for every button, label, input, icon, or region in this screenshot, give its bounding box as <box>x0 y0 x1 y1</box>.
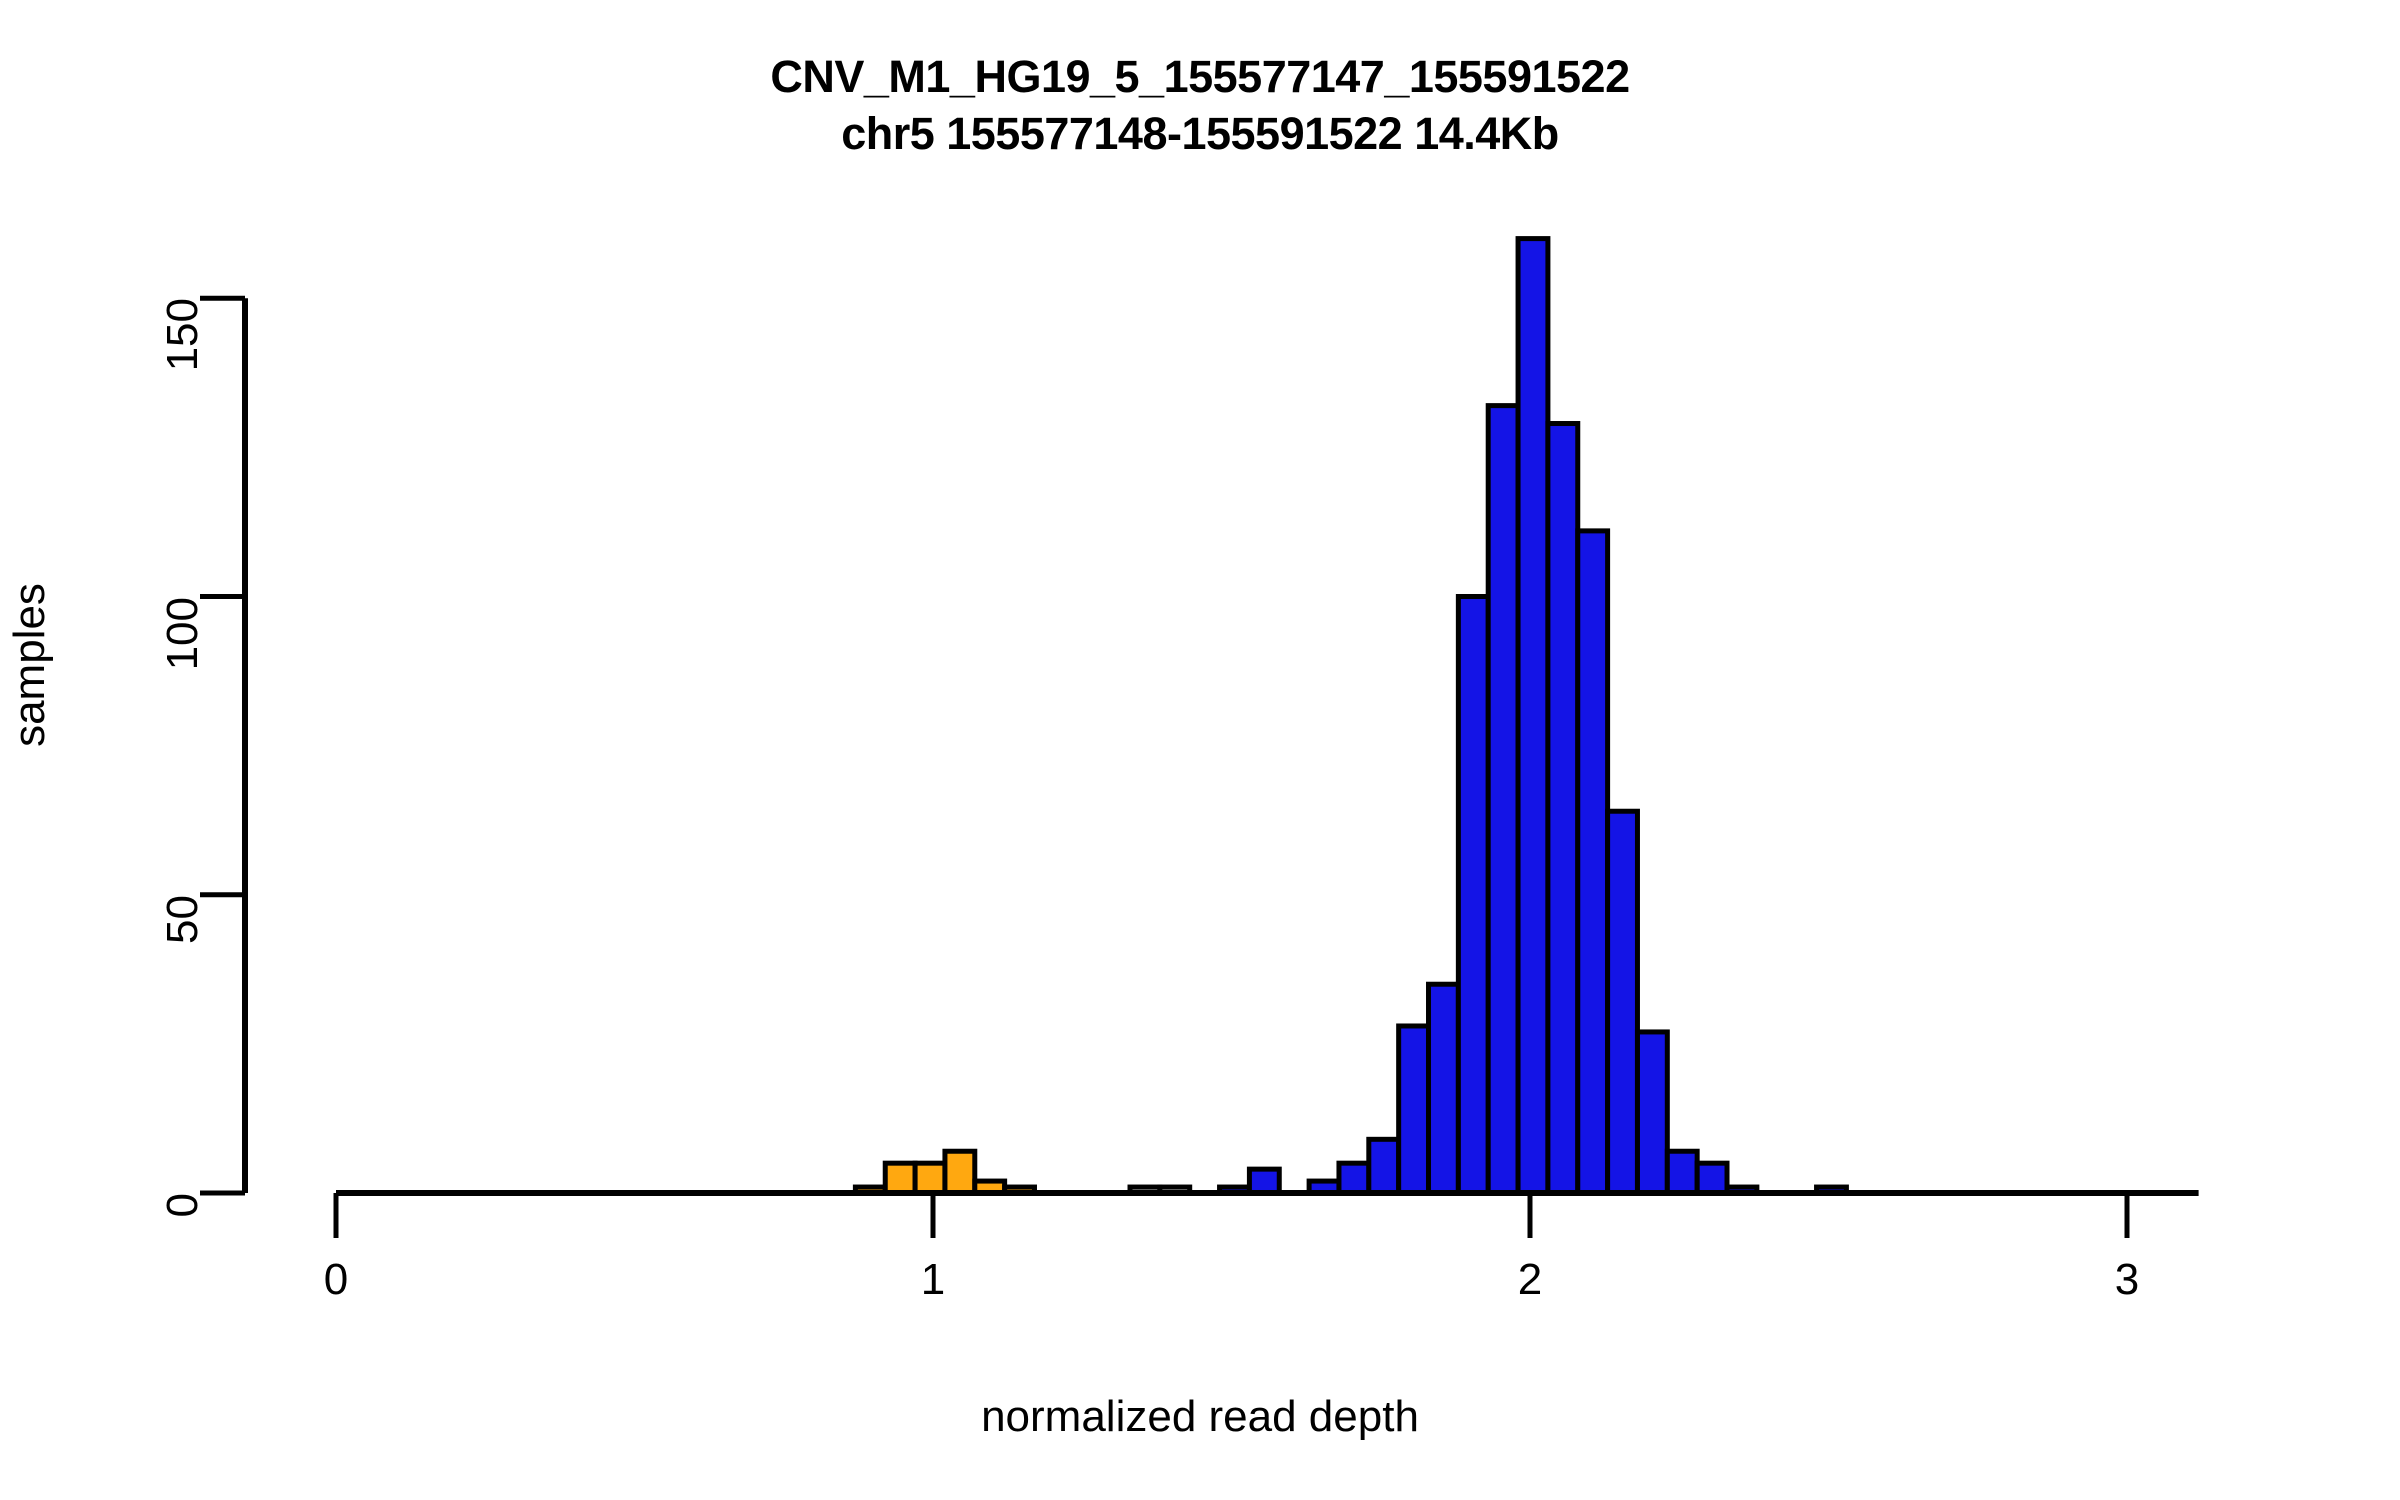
histogram-figure: CNV_M1_HG19_5_155577147_155591522 chr5 1… <box>0 0 2400 1500</box>
y-axis-ticks <box>200 298 245 1193</box>
histogram-bar <box>1339 1163 1369 1193</box>
axes-layer <box>200 298 2199 1238</box>
histogram-bar <box>1249 1169 1279 1193</box>
histogram-bar <box>1697 1163 1727 1193</box>
y-axis-tick-label: 0 <box>158 1193 208 1217</box>
histogram-bar <box>1637 1032 1667 1193</box>
histogram-bar <box>1608 811 1638 1193</box>
histogram-bar <box>1369 1139 1399 1193</box>
histogram-bar <box>915 1163 945 1193</box>
histogram-bar <box>1518 239 1548 1193</box>
histogram-bar <box>1458 597 1488 1194</box>
x-axis-ticks <box>336 1193 2127 1238</box>
plot-canvas <box>0 0 2400 1500</box>
x-axis-tick-label: 3 <box>2115 1255 2139 1305</box>
y-axis-tick-label: 50 <box>158 895 208 944</box>
histogram-bar <box>1578 531 1608 1193</box>
histogram-bar <box>1429 984 1459 1193</box>
histogram-bar <box>1488 406 1518 1193</box>
x-axis-tick-label: 0 <box>324 1255 348 1305</box>
y-axis-title: samples <box>5 465 55 865</box>
y-axis-tick-label: 100 <box>158 597 208 670</box>
histogram-bar <box>945 1151 975 1193</box>
histogram-bar <box>1399 1026 1429 1193</box>
y-axis-tick-label: 150 <box>158 298 208 371</box>
x-axis-tick-label: 2 <box>1518 1255 1542 1305</box>
histogram-bar <box>1548 424 1578 1193</box>
histogram-bar <box>885 1163 915 1193</box>
x-axis-tick-label: 1 <box>921 1255 945 1305</box>
histogram-bar <box>1667 1151 1697 1193</box>
x-axis-title: normalized read depth <box>0 1392 2400 1442</box>
bars-layer <box>855 239 1846 1193</box>
